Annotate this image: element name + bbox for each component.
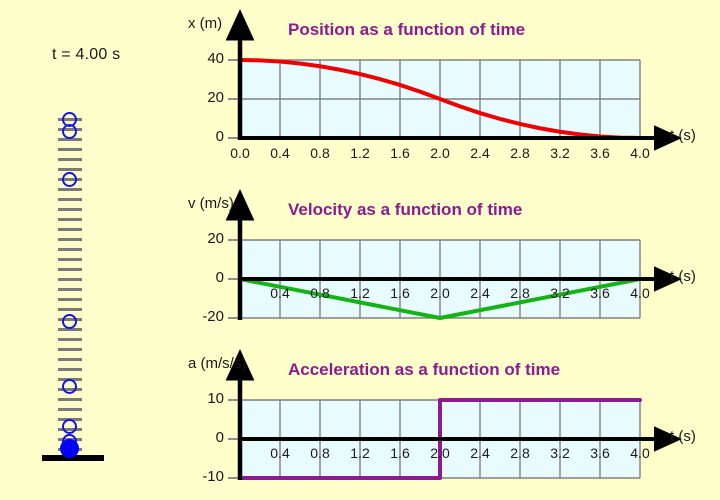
x-tick-label: 0.8 (298, 285, 342, 301)
y-tick-label: 0 (178, 429, 224, 446)
simulation-canvas: t = 4.00 s Position as a function of tim… (0, 0, 720, 500)
y-tick-label: 0 (178, 128, 224, 145)
x-tick-label: 4.0 (618, 445, 662, 461)
x-tick-label: 1.6 (378, 285, 422, 301)
x-tick-label: 2.8 (498, 445, 542, 461)
x-tick-label: 2.0 (418, 145, 462, 161)
charts-svg (0, 0, 720, 500)
x-tick-label: 1.6 (378, 445, 422, 461)
x-tick-label: 4.0 (618, 145, 662, 161)
y-tick-label: -10 (178, 468, 224, 485)
charts-layer: Position as a function of timex (m)t (s)… (0, 0, 720, 500)
x-tick-label: 2.0 (418, 445, 462, 461)
y-tick-label: 20 (178, 89, 224, 106)
position-chart (228, 36, 658, 140)
chart-title: Position as a function of time (288, 20, 525, 40)
y-axis-label: a (m/s/s) (188, 355, 246, 372)
x-axis-label: t (s) (670, 268, 696, 285)
x-tick-label: 3.6 (578, 285, 622, 301)
x-tick-label: 1.2 (338, 445, 382, 461)
x-tick-label: 3.2 (538, 445, 582, 461)
x-tick-label: 0.8 (298, 145, 342, 161)
x-tick-label: 0.8 (298, 445, 342, 461)
x-tick-label: 2.8 (498, 145, 542, 161)
x-tick-label: 1.6 (378, 145, 422, 161)
chart-title: Velocity as a function of time (288, 200, 522, 220)
y-tick-label: 40 (178, 50, 224, 67)
x-tick-label: 3.6 (578, 445, 622, 461)
chart-title: Acceleration as a function of time (288, 360, 560, 380)
x-tick-label: 1.2 (338, 145, 382, 161)
y-tick-label: -20 (178, 308, 224, 325)
x-tick-label: 2.4 (458, 145, 502, 161)
x-tick-label: 2.4 (458, 445, 502, 461)
x-tick-label: 3.2 (538, 145, 582, 161)
x-tick-label: 3.6 (578, 145, 622, 161)
x-tick-label: 0.4 (258, 285, 302, 301)
x-tick-label: 0.0 (218, 145, 262, 161)
x-tick-label: 2.0 (418, 285, 462, 301)
x-axis-label: t (s) (670, 428, 696, 445)
y-tick-label: 10 (178, 390, 224, 407)
acceleration-chart (228, 376, 658, 480)
x-tick-label: 1.2 (338, 285, 382, 301)
y-tick-label: 0 (178, 269, 224, 286)
y-axis-label: v (m/s) (188, 195, 234, 212)
x-tick-label: 2.4 (458, 285, 502, 301)
x-tick-label: 0.4 (258, 445, 302, 461)
y-tick-label: 20 (178, 230, 224, 247)
x-tick-label: 0.4 (258, 145, 302, 161)
x-tick-label: 3.2 (538, 285, 582, 301)
velocity-chart (228, 216, 658, 320)
x-tick-label: 4.0 (618, 285, 662, 301)
x-tick-label: 2.8 (498, 285, 542, 301)
x-axis-label: t (s) (670, 127, 696, 144)
y-axis-label: x (m) (188, 15, 222, 32)
